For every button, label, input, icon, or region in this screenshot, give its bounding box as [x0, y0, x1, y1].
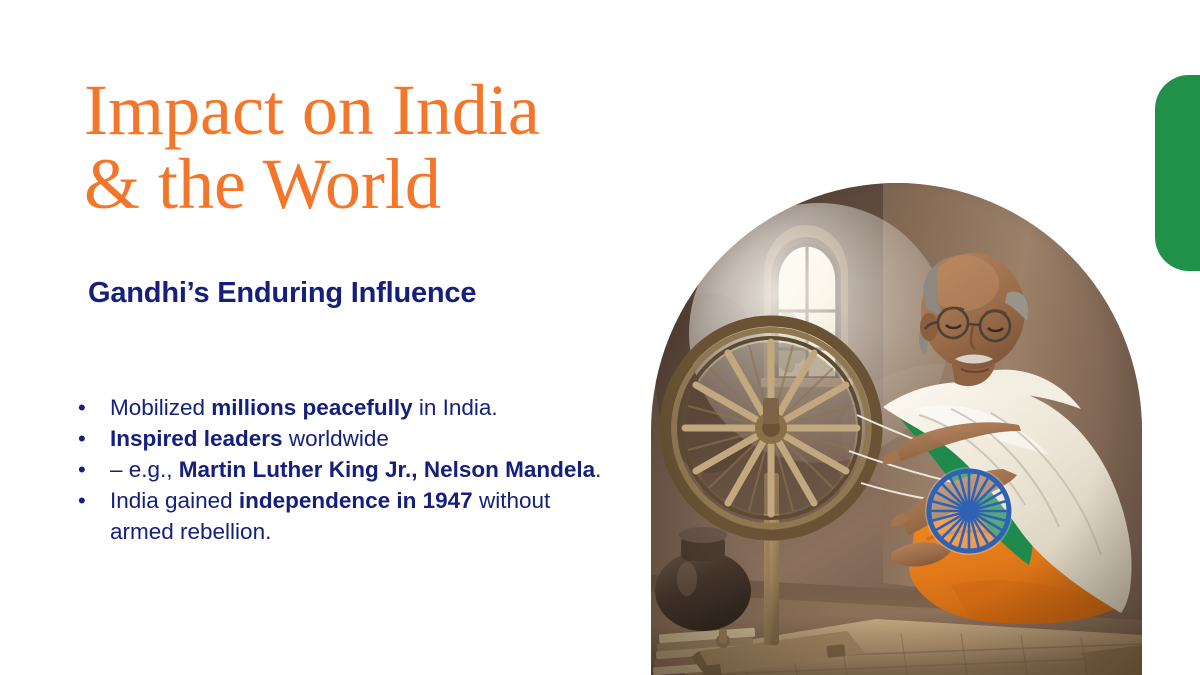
plain-text: – e.g., — [110, 457, 179, 482]
slide-canvas: Impact on India & the World Gandhi’s End… — [0, 0, 1200, 675]
list-item: •India gained independence in 1947 witho… — [72, 485, 617, 547]
list-item-text: – e.g., Martin Luther King Jr., Nelson M… — [110, 454, 617, 485]
emphasis-text: independence in 1947 — [239, 488, 473, 513]
plain-text: India gained — [110, 488, 239, 513]
emphasis-text: millions peacefully — [211, 395, 412, 420]
bullet-marker-icon: • — [72, 454, 110, 485]
emphasis-text: Martin Luther King Jr., Nelson Mandela — [179, 457, 595, 482]
list-item: •Inspired leaders worldwide — [72, 423, 617, 454]
page-title: Impact on India & the World — [84, 73, 684, 221]
section-heading: Gandhi’s Enduring Influence — [88, 277, 708, 310]
plain-text: worldwide — [283, 426, 389, 451]
plain-text: in India. — [413, 395, 498, 420]
list-item-text: Inspired leaders worldwide — [110, 423, 617, 454]
emphasis-text: Inspired leaders — [110, 426, 283, 451]
bullet-marker-icon: • — [72, 485, 110, 516]
bullet-list: •Mobilized millions peacefully in India.… — [72, 392, 617, 547]
bullet-marker-icon: • — [72, 392, 110, 423]
list-item: •Mobilized millions peacefully in India. — [72, 392, 617, 423]
bullet-marker-icon: • — [72, 423, 110, 454]
list-item: •– e.g., Martin Luther King Jr., Nelson … — [72, 454, 617, 485]
green-accent-shape — [1155, 75, 1200, 271]
plain-text: Mobilized — [110, 395, 211, 420]
list-item-text: Mobilized millions peacefully in India. — [110, 392, 617, 423]
gandhi-spinning-wheel-photo: Mahatma Gandhi seated on a jute mat spin… — [651, 183, 1142, 675]
photo-svg: Mahatma Gandhi seated on a jute mat spin… — [651, 183, 1142, 675]
list-item-text: India gained independence in 1947 withou… — [110, 485, 617, 547]
plain-text: . — [595, 457, 601, 482]
